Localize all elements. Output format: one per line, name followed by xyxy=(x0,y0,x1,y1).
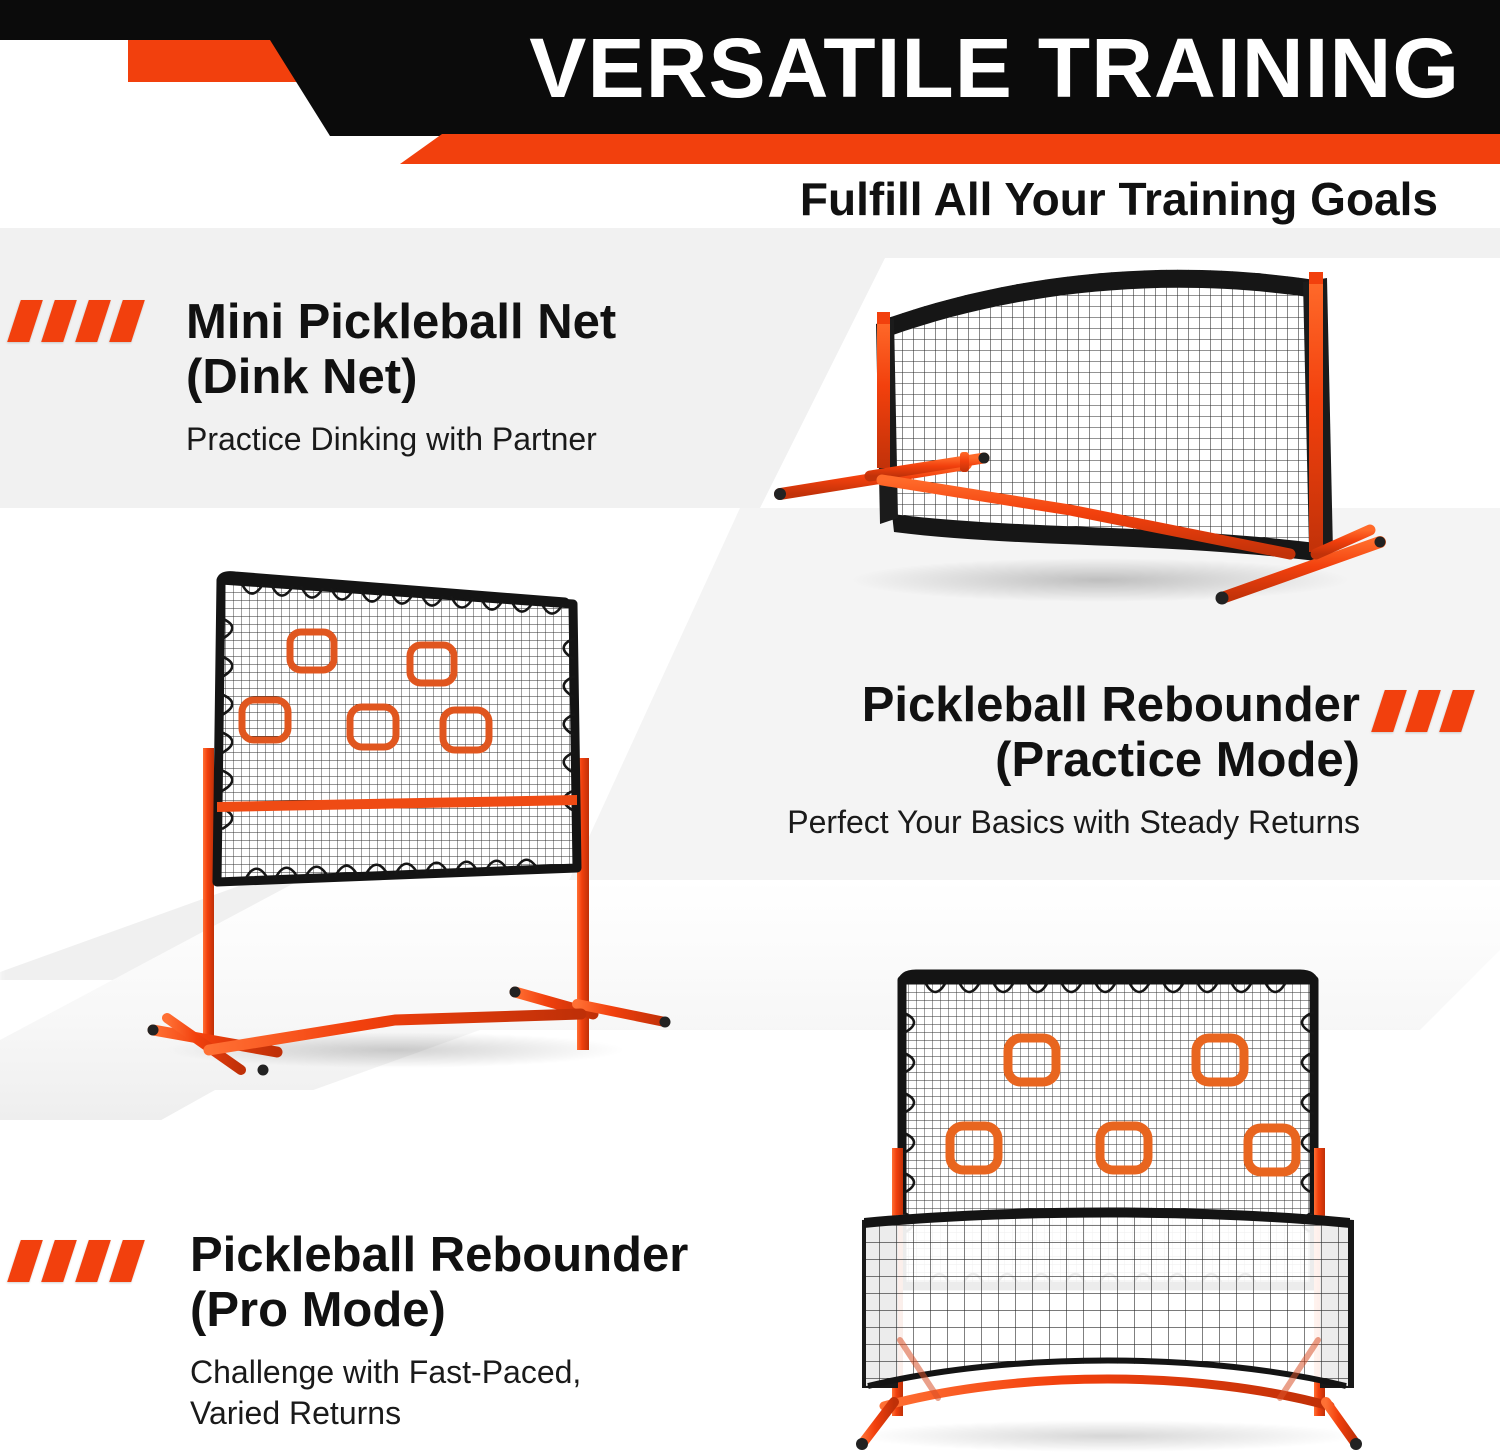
header-accent-bar-bottom xyxy=(400,134,1500,164)
feature-title-line1: Pickleball Rebounder xyxy=(190,1228,688,1283)
page-subtitle: Fulfill All Your Training Goals xyxy=(0,176,1438,222)
feature-title-line2: (Dink Net) xyxy=(186,350,616,405)
feature-block-rebounder-pro: Pickleball Rebounder (Pro Mode) Challeng… xyxy=(190,1228,688,1435)
product-image-mini-net xyxy=(770,262,1390,622)
product-image-rebounder-pro xyxy=(828,936,1388,1456)
feature-block-mini-pickleball-net: Mini Pickleball Net (Dink Net) Practice … xyxy=(186,295,616,460)
ground-shadow xyxy=(858,1420,1358,1452)
infographic-root: VERSATILE TRAINING Fulfill All Your Trai… xyxy=(0,0,1500,1456)
page-title: VERSATILE TRAINING xyxy=(0,26,1460,110)
product-image-rebounder-practice xyxy=(145,552,690,1072)
feature-subtitle-line1: Challenge with Fast-Paced, xyxy=(190,1352,688,1394)
feature-title-line1: Mini Pickleball Net xyxy=(186,295,616,350)
stripe-2 xyxy=(41,1240,77,1282)
feature-title-line2: (Pro Mode) xyxy=(190,1283,688,1338)
stripe-accent-feature-3 xyxy=(14,1240,138,1282)
front-ground-bar xyxy=(884,1379,1330,1406)
net-mesh xyxy=(205,562,605,902)
base-right xyxy=(510,987,671,1028)
stripe-2 xyxy=(41,300,77,342)
stripe-accent-feature-1 xyxy=(14,300,138,342)
stripe-2 xyxy=(1405,690,1441,732)
leg-left xyxy=(203,748,214,1048)
stripe-accent-feature-2 xyxy=(1378,690,1468,732)
stripe-3 xyxy=(75,300,111,342)
pole-left xyxy=(877,320,890,468)
stripe-3 xyxy=(75,1240,111,1282)
feature-subtitle: Practice Dinking with Partner xyxy=(186,419,616,461)
feature-subtitle-line2: Varied Returns xyxy=(190,1393,688,1435)
pole-right xyxy=(1309,280,1323,552)
